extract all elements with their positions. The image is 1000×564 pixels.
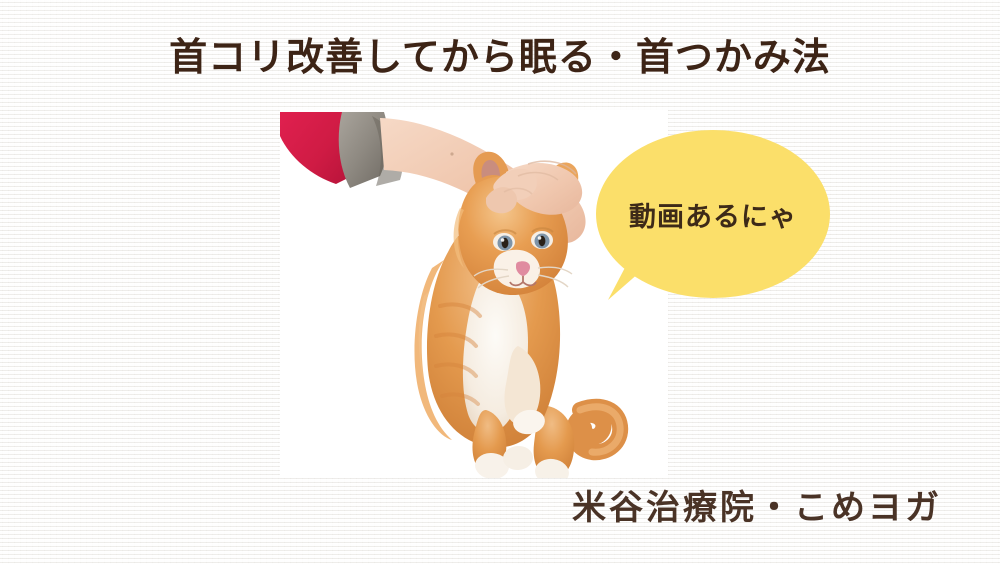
speech-bubble-shape	[596, 130, 836, 305]
speech-bubble: 動画あるにゃ	[596, 130, 836, 305]
slide-canvas: 首コリ改善してから眠る・首つかみ法	[0, 0, 1000, 564]
page-title: 首コリ改善してから眠る・首つかみ法	[0, 33, 1000, 81]
brand-name: 米谷治療院・こめヨガ	[572, 486, 942, 530]
